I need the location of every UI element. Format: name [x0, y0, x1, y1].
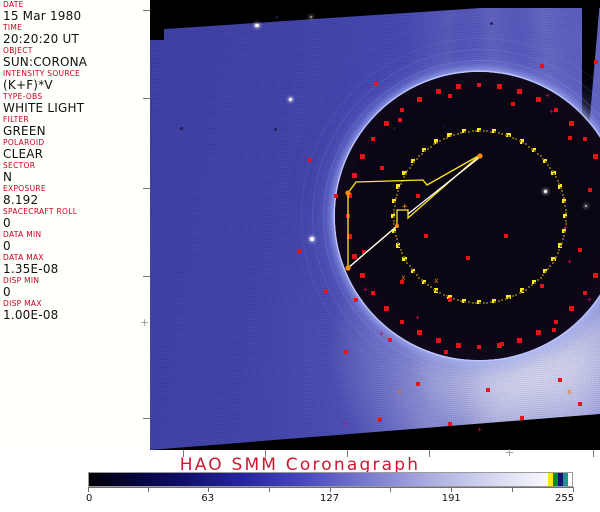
metadata-field: TYPE-OBS WHITE LIGHT: [0, 92, 150, 115]
colorbar-label: 191: [442, 493, 461, 504]
coronagraph-viewer: DATE 15 Mar 1980 TIME 20:20:20 UT OBJECT…: [0, 0, 600, 512]
metadata-field: DATE 15 Mar 1980: [0, 0, 150, 23]
metadata-field: INTENSITY SOURCE (K+F)*V: [0, 69, 150, 92]
colorbar[interactable]: 063127191255: [88, 472, 573, 512]
colorbar-tick: [512, 487, 513, 492]
colorbar-label: 127: [320, 493, 339, 504]
metadata-value: WHITE LIGHT: [3, 101, 150, 115]
colorbar-tick: [148, 487, 149, 492]
metadata-value: 1.35E-08: [3, 262, 150, 276]
metadata-value: 20:20:20 UT: [3, 32, 150, 46]
metadata-label: DATE: [3, 0, 150, 9]
metadata-field: SECTOR N: [0, 161, 150, 184]
metadata-label: INTENSITY SOURCE: [3, 69, 150, 78]
colorbar-tick: [269, 487, 270, 492]
metadata-label: DISP MIN: [3, 276, 150, 285]
metadata-value: 0: [3, 216, 150, 230]
metadata-label: DISP MAX: [3, 299, 150, 308]
y-axis-crosshair-marker: +: [140, 317, 149, 328]
colorbar-marker-band: [563, 473, 568, 486]
metadata-label: OBJECT: [3, 46, 150, 55]
metadata-label: FILTER: [3, 115, 150, 124]
y-axis-tick: [143, 276, 150, 277]
y-axis-tick: [143, 188, 150, 189]
colorbar-label: 255: [555, 493, 574, 504]
feature-outline-polygon: +: [150, 0, 600, 450]
colorbar-tick: [573, 487, 574, 492]
metadata-value: CLEAR: [3, 147, 150, 161]
metadata-label: EXPOSURE: [3, 184, 150, 193]
metadata-label: SECTOR: [3, 161, 150, 170]
metadata-field: POLAROID CLEAR: [0, 138, 150, 161]
metadata-value: N: [3, 170, 150, 184]
metadata-value: (K+F)*V: [3, 78, 150, 92]
colorbar-axis: 063127191255: [88, 487, 573, 509]
metadata-label: POLAROID: [3, 138, 150, 147]
metadata-field: DISP MIN 0: [0, 276, 150, 299]
colorbar-tick: [88, 487, 89, 492]
metadata-value: 1.00E-08: [3, 308, 150, 322]
metadata-field: EXPOSURE 8.192: [0, 184, 150, 207]
metadata-field: FILTER GREEN: [0, 115, 150, 138]
metadata-field: SPACECRAFT ROLL 0: [0, 207, 150, 230]
metadata-label: TYPE-OBS: [3, 92, 150, 101]
metadata-value: 8.192: [3, 193, 150, 207]
metadata-label: SPACECRAFT ROLL: [3, 207, 150, 216]
colorbar-label: 63: [201, 493, 214, 504]
colorbar-label: 0: [86, 493, 92, 504]
metadata-sidebar: DATE 15 Mar 1980 TIME 20:20:20 UT OBJECT…: [0, 0, 150, 450]
metadata-field: DISP MAX 1.00E-08: [0, 299, 150, 322]
metadata-field: DATA MIN 0: [0, 230, 150, 253]
metadata-value: 0: [3, 285, 150, 299]
metadata-field: DATA MAX 1.35E-08: [0, 253, 150, 276]
metadata-label: TIME: [3, 23, 150, 32]
metadata-value: SUN:CORONA: [3, 55, 150, 69]
colorbar-tick: [451, 487, 452, 492]
colorbar-ramp: [88, 472, 573, 487]
metadata-field: TIME 20:20:20 UT: [0, 23, 150, 46]
metadata-label: DATA MAX: [3, 253, 150, 262]
y-axis-tick: [143, 418, 150, 419]
metadata-value: 15 Mar 1980: [3, 9, 150, 23]
y-axis-tick: [143, 98, 150, 99]
y-axis-tick: [143, 10, 150, 11]
coronagraph-image[interactable]: xxxx++++++++++ +: [150, 0, 600, 450]
metadata-label: DATA MIN: [3, 230, 150, 239]
metadata-value: 0: [3, 239, 150, 253]
metadata-value: GREEN: [3, 124, 150, 138]
colorbar-tick: [330, 487, 331, 492]
metadata-field: OBJECT SUN:CORONA: [0, 46, 150, 69]
colorbar-tick: [208, 487, 209, 492]
svg-text:+: +: [402, 202, 408, 212]
colorbar-tick: [390, 487, 391, 492]
